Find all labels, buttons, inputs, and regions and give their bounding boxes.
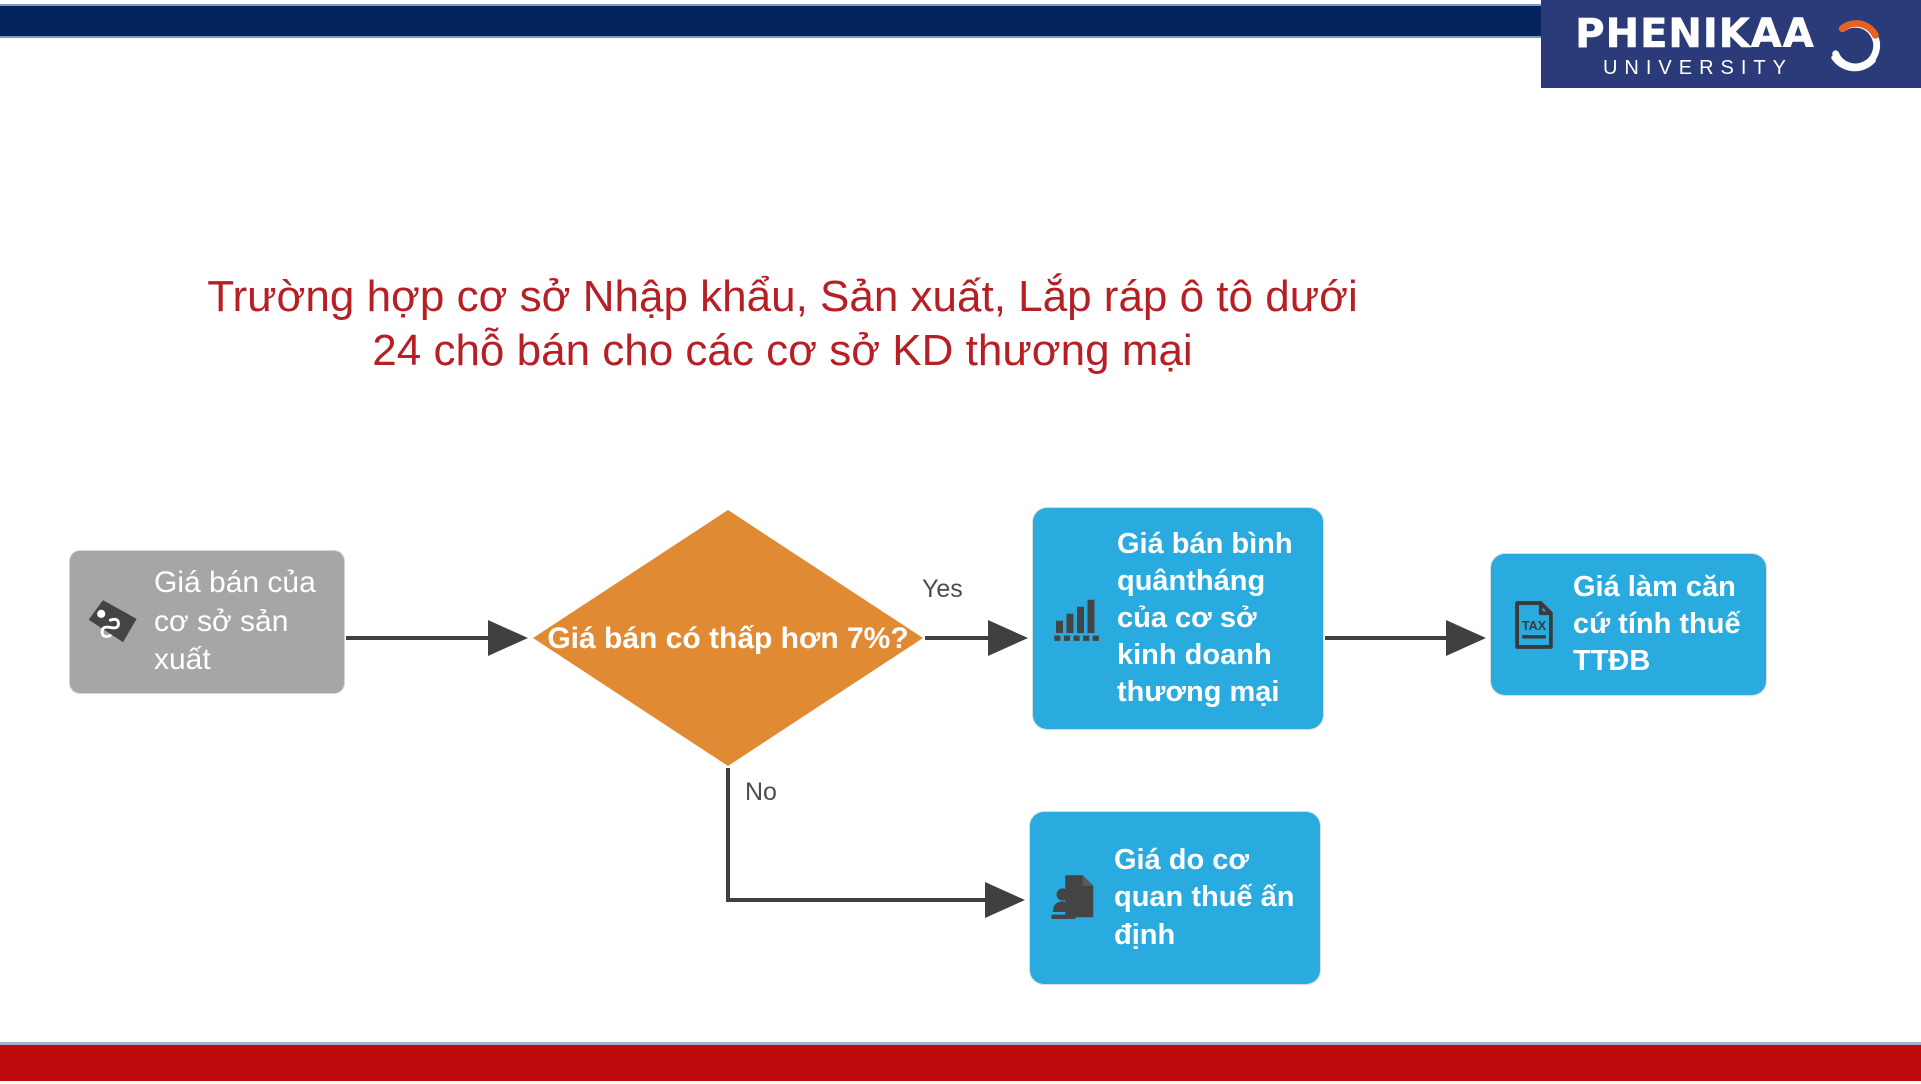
edge-label-yes: Yes (922, 575, 963, 604)
slide-title-line-1: Trường hợp cơ sở Nhập khẩu, Sản xuất, Lắ… (0, 270, 1565, 324)
brand-logo: PHENIKAA UNIVERSITY (1541, 0, 1921, 88)
node-final-result[interactable]: TAX Giá làm căn cứ tính thuế TTĐB (1491, 554, 1766, 695)
node-no-result-label: Giá do cơ quan thuế ấn định (1114, 842, 1304, 953)
node-start-label: Giá bán của cơ sở sản xuất (154, 564, 330, 679)
node-no-result[interactable]: Giá do cơ quan thuế ấn định (1030, 812, 1320, 984)
node-decision[interactable]: Giá bán có thấp hơn 7%? (533, 510, 923, 766)
edge-label-no: No (745, 778, 777, 807)
price-tag-icon (84, 593, 142, 651)
brand-subtitle: UNIVERSITY (1597, 58, 1793, 78)
bar-chart-icon (1049, 591, 1105, 647)
brand-name: PHENIKAA (1575, 14, 1814, 54)
node-yes-result-label: Giá bán bình quântháng của cơ sở kinh do… (1117, 526, 1307, 712)
tax-document-icon: TAX (1507, 598, 1561, 652)
node-decision-label: Giá bán có thấp hơn 7%? (533, 510, 923, 766)
phenikaa-circle-icon (1825, 15, 1887, 77)
node-final-result-label: Giá làm căn cứ tính thuế TTĐB (1573, 569, 1750, 680)
node-yes-result[interactable]: Giá bán bình quântháng của cơ sở kinh do… (1033, 508, 1323, 729)
slide-title-line-2: 24 chỗ bán cho các cơ sở KD thương mại (0, 324, 1565, 378)
svg-text:TAX: TAX (1522, 619, 1547, 633)
flow-connectors (0, 0, 1921, 1081)
node-start[interactable]: Giá bán của cơ sở sản xuất (70, 551, 344, 693)
document-stamp-icon (1046, 870, 1102, 926)
footer-caption (0, 1074, 1921, 1084)
header-accent-bar (0, 4, 1545, 38)
slide-title: Trường hợp cơ sở Nhập khẩu, Sản xuất, Lắ… (0, 270, 1565, 377)
